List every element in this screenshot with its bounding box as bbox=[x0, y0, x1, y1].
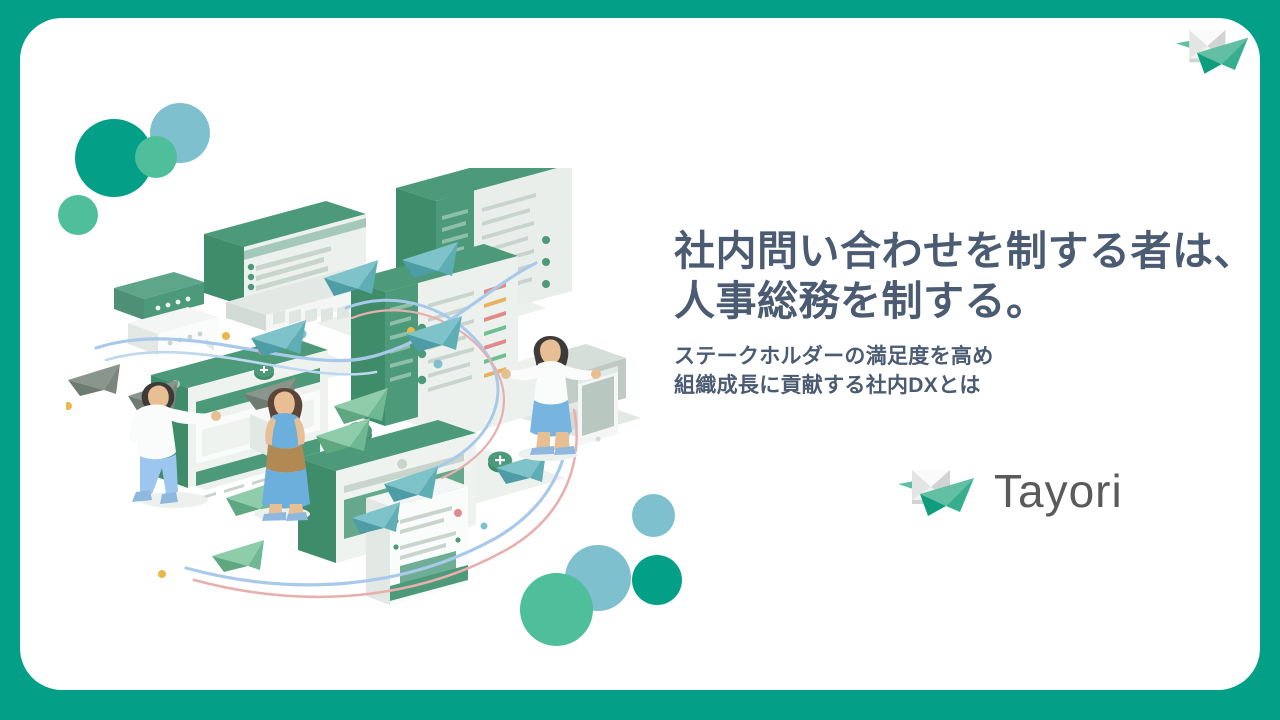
page-title: 社内問い合わせを制する者は、 人事総務を制する。 bbox=[674, 226, 1260, 326]
headline-block: 社内問い合わせを制する者は、 人事総務を制する。 ステークホルダーの満足度を高め… bbox=[674, 226, 1260, 401]
brand-lockup: Tayori bbox=[898, 460, 1123, 522]
hero-illustration bbox=[66, 168, 666, 608]
tayori-mark-icon bbox=[898, 460, 978, 522]
slide-card: 社内問い合わせを制する者は、 人事総務を制する。 ステークホルダーの満足度を高め… bbox=[20, 18, 1260, 690]
tayori-mark-svg bbox=[898, 460, 978, 522]
tayori-wordmark: Tayori bbox=[994, 468, 1123, 514]
tayori-corner-mark-svg bbox=[1176, 20, 1252, 80]
slide-root: 社内問い合わせを制する者は、 人事総務を制する。 ステークホルダーの満足度を高め… bbox=[0, 0, 1280, 720]
page-subtitle: ステークホルダーの満足度を高め 組織成長に貢献する社内DXとは bbox=[674, 343, 1260, 401]
hero-illustration-svg bbox=[66, 168, 666, 608]
